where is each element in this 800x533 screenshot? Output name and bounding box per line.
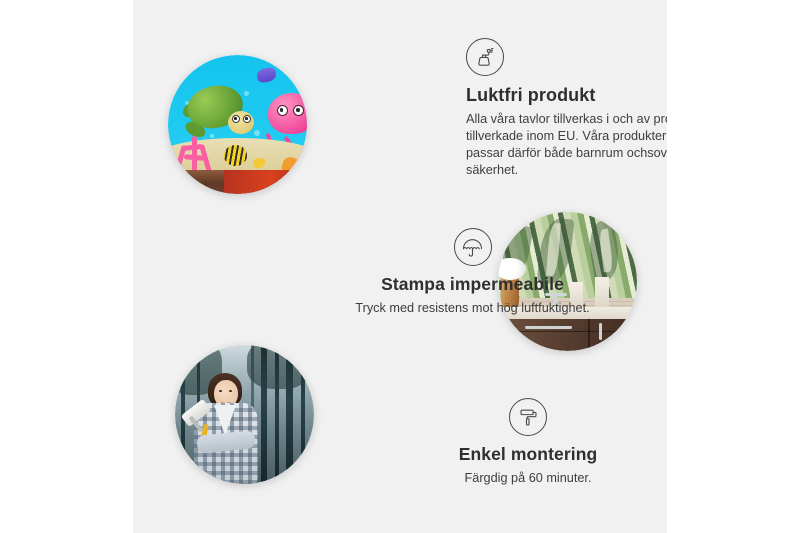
forest-tree: [301, 345, 305, 484]
no-odor-spray-icon: [466, 38, 504, 76]
vanity-drawer-divider: [509, 331, 637, 333]
photo-painter: [175, 345, 314, 484]
photo-sea-life: [168, 55, 307, 194]
photo-painter-inner: [175, 345, 314, 484]
forest-tree: [275, 345, 279, 484]
forest-tree: [261, 345, 267, 484]
content-canvas: Luktfri produkt Alla våra tavlor tillver…: [133, 0, 667, 533]
feature-odorless: Luktfri produkt Alla våra tavlor tillver…: [466, 38, 667, 179]
vanity-handle: [599, 323, 602, 340]
feature-description: Tryck med resistens mot hög luftfuktighe…: [345, 300, 600, 317]
forest-tree: [286, 345, 293, 484]
bathroom-vanity-cabinet: [509, 319, 637, 351]
turtle-eye: [232, 115, 240, 123]
feature-title: Enkel montering: [433, 444, 623, 465]
feature-title: Luktfri produkt: [466, 85, 667, 106]
coral-pink: [176, 136, 212, 174]
photo-sea-life-inner: [168, 55, 307, 194]
umbrella-icon: [454, 228, 492, 266]
feature-title: Stampa impermeabile: [345, 274, 600, 295]
vanity-handle: [629, 323, 632, 340]
feature-easy-mounting: Enkel montering Färgdig på 60 minuter.: [433, 398, 623, 487]
coral-branch: [183, 154, 203, 161]
vanity-door-divider: [588, 319, 590, 351]
octopus-eye: [277, 105, 288, 116]
feature-description: Färgdig på 60 minuter.: [433, 470, 623, 487]
feature-description: Alla våra tavlor tillverkas i och av pro…: [466, 111, 667, 179]
paint-roller-icon: [509, 398, 547, 436]
page-root: Luktfri produkt Alla våra tavlor tillver…: [0, 0, 800, 533]
fish-small-yellow: [253, 158, 266, 168]
vanity-handle: [525, 326, 571, 329]
feature-waterproof: Stampa impermeabile Tryck med resistens …: [345, 228, 600, 317]
sea-floor-red-rock: [224, 170, 307, 194]
turtle-eye: [243, 115, 251, 123]
